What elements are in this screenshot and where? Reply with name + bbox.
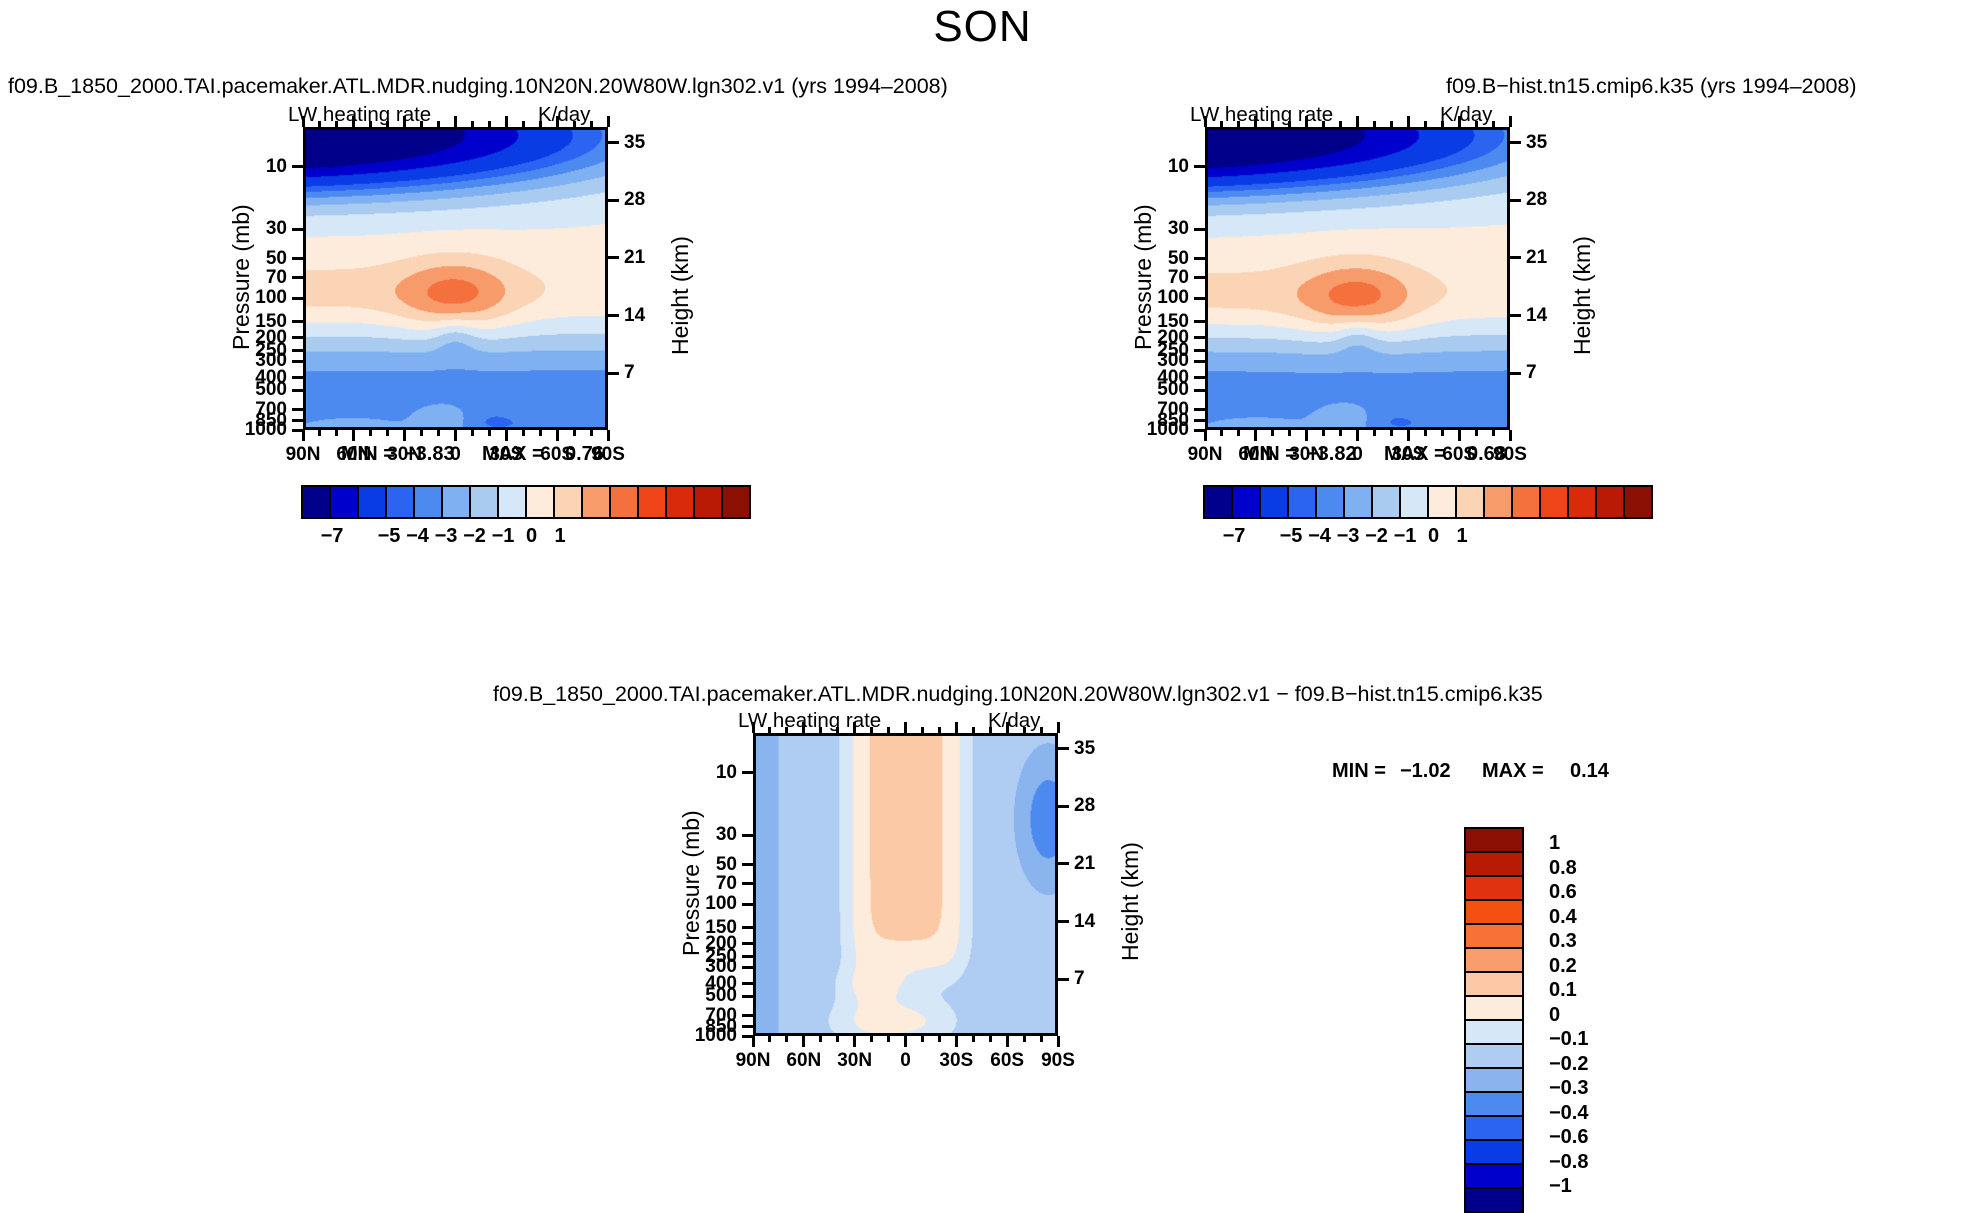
pressure-tick [1194, 276, 1205, 279]
colorbar-swatch [443, 487, 471, 517]
height-tick-label: 28 [624, 189, 645, 211]
pressure-tick-label: 30 [0, 824, 737, 846]
latitude-tick [989, 1036, 992, 1042]
diff-contour-plot[interactable] [753, 733, 1058, 1036]
latitude-tick [1057, 1036, 1060, 1047]
diff-ylabel-height: Height (km) [1117, 842, 1144, 961]
pressure-tick [742, 882, 753, 885]
latitude-tick [590, 121, 593, 127]
latitude-tick [870, 727, 873, 733]
height-tick [608, 199, 619, 202]
colorbar-swatch [1466, 925, 1522, 949]
pressure-tick-label: 70 [0, 873, 737, 895]
latitude-tick [1204, 116, 1207, 127]
latitude-tick [420, 121, 423, 127]
height-tick-label: 14 [1074, 911, 1095, 933]
colorbar-tick-label: −0.6 [1549, 1126, 1588, 1149]
colorbar-swatch [1457, 487, 1485, 517]
diff-panel-title: f09.B_1850_2000.TAI.pacemaker.ATL.MDR.nu… [493, 682, 1543, 707]
latitude-tick [904, 1036, 907, 1047]
height-tick-label: 21 [1526, 247, 1547, 269]
colorbar-swatch [1466, 1021, 1522, 1045]
latitude-tick [1475, 430, 1478, 436]
right-max-value: 0.68 [1467, 443, 1506, 466]
latitude-tick [1441, 121, 1444, 127]
colorbar-swatch [667, 487, 695, 517]
latitude-tick [556, 116, 559, 127]
latitude-tick [403, 116, 406, 127]
colorbar-swatch [1261, 487, 1289, 517]
colorbar-tick-label: 0.1 [1549, 979, 1577, 1002]
latitude-tick [1458, 116, 1461, 127]
colorbar-swatch [1466, 853, 1522, 877]
height-tick-label: 14 [1526, 305, 1547, 327]
colorbar-swatch [583, 487, 611, 517]
right-ylabel-height: Height (km) [1569, 236, 1596, 355]
colorbar-tick-label: 0 [1549, 1004, 1560, 1027]
latitude-tick [887, 727, 890, 733]
colorbar-swatch [1466, 1117, 1522, 1141]
latitude-tick [972, 727, 975, 733]
pressure-tick [1194, 408, 1205, 411]
colorbar-swatch [1466, 1141, 1522, 1165]
pressure-tick-label: 10 [0, 156, 1189, 178]
colorbar-tick-label: 0.2 [1549, 955, 1577, 978]
latitude-tick [1322, 430, 1325, 436]
left-field-label: LW heating rate [288, 103, 431, 127]
latitude-tick [454, 116, 457, 127]
diff-units-label: K/day [988, 709, 1040, 733]
colorbar-swatch [359, 487, 387, 517]
colorbar-swatch [499, 487, 527, 517]
diff-min-label: MIN = [1332, 760, 1386, 783]
latitude-tick [1271, 430, 1274, 436]
latitude-tick [437, 121, 440, 127]
colorbar-tick-label: 1 [538, 525, 582, 548]
left-min-value: −3.83 [404, 443, 455, 466]
latitude-tick-label: 90S [1024, 1050, 1092, 1072]
right-panel-title: f09.B−hist.tn15.cmip6.k35 (yrs 1994–2008… [1446, 74, 1857, 99]
latitude-tick [1424, 430, 1427, 436]
latitude-tick [522, 121, 525, 127]
latitude-tick [938, 727, 941, 733]
latitude-tick [607, 116, 610, 127]
latitude-tick [1407, 430, 1410, 441]
latitude-tick [505, 116, 508, 127]
height-tick [1510, 314, 1521, 317]
colorbar-tick-label: −0.8 [1549, 1151, 1588, 1174]
pressure-tick [742, 903, 753, 906]
pressure-tick [742, 1025, 753, 1028]
latitude-tick [955, 1036, 958, 1047]
height-tick-label: 28 [1074, 795, 1095, 817]
latitude-tick [488, 121, 491, 127]
diff-max-label: MAX = [1482, 760, 1544, 783]
latitude-tick [836, 1036, 839, 1042]
latitude-tick [1305, 116, 1308, 127]
latitude-tick [904, 722, 907, 733]
pressure-tick [1194, 297, 1205, 300]
latitude-tick [386, 121, 389, 127]
latitude-tick [768, 1036, 771, 1042]
colorbar-swatch [1625, 487, 1651, 517]
colorbar-tick-label: 1 [1549, 832, 1560, 855]
latitude-tick [870, 1036, 873, 1042]
latitude-tick [302, 116, 305, 127]
colorbar-swatch [415, 487, 443, 517]
colorbar-tick-label: −0.3 [1549, 1077, 1588, 1100]
latitude-tick [1271, 121, 1274, 127]
colorbar-swatch [1466, 973, 1522, 997]
right-units-label: K/day [1440, 103, 1492, 127]
latitude-tick [1509, 430, 1512, 441]
pressure-tick [742, 834, 753, 837]
pressure-tick [1194, 336, 1205, 339]
colorbar-swatch [1569, 487, 1597, 517]
colorbar-swatch [1466, 1093, 1522, 1117]
left-min-label: MIN = [341, 443, 395, 466]
colorbar-swatch [1345, 487, 1373, 517]
right-min-label: MIN = [1243, 443, 1297, 466]
latitude-tick [1509, 116, 1512, 127]
latitude-tick [1023, 727, 1026, 733]
latitude-tick [1006, 722, 1009, 733]
pressure-tick-label: 70 [0, 267, 1189, 289]
pressure-tick-label: 1000 [0, 419, 1189, 441]
height-tick-label: 7 [1074, 968, 1085, 990]
pressure-tick-label: 100 [0, 287, 1189, 309]
colorbar-swatch [1485, 487, 1513, 517]
diff-field-label: LW heating rate [738, 709, 881, 733]
latitude-tick [1237, 430, 1240, 436]
colorbar-swatch [1466, 877, 1522, 901]
latitude-tick [1407, 116, 1410, 127]
latitude-tick [1390, 121, 1393, 127]
colorbar-swatch [1466, 901, 1522, 925]
latitude-tick [1492, 430, 1495, 436]
pressure-tick [1194, 165, 1205, 168]
latitude-tick [752, 722, 755, 733]
colorbar-tick-label: −0.4 [1549, 1102, 1588, 1125]
pressure-tick [742, 966, 753, 969]
pressure-tick [1194, 360, 1205, 363]
latitude-tick [1023, 1036, 1026, 1042]
colorbar-tick-label: 1 [1440, 525, 1484, 548]
height-tick-label: 35 [1074, 738, 1095, 760]
latitude-tick [318, 121, 321, 127]
latitude-tick [1373, 430, 1376, 436]
colorbar-swatch [1466, 829, 1522, 853]
colorbar-tick-label: −7 [1212, 525, 1256, 548]
latitude-tick [1254, 430, 1257, 441]
pressure-tick [1194, 320, 1205, 323]
right-colorbar[interactable] [1203, 485, 1653, 519]
latitude-tick [1254, 116, 1257, 127]
pressure-tick [1194, 349, 1205, 352]
colorbar-tick-label: −0.1 [1549, 1028, 1588, 1051]
colorbar-swatch [1401, 487, 1429, 517]
right-field-label: LW heating rate [1190, 103, 1333, 127]
latitude-tick [819, 1036, 822, 1042]
pressure-tick [1194, 228, 1205, 231]
colorbar-swatch [1289, 487, 1317, 517]
height-tick-label: 35 [1526, 132, 1547, 154]
colorbar-swatch [1466, 949, 1522, 973]
latitude-tick [802, 722, 805, 733]
latitude-tick [1220, 121, 1223, 127]
height-tick [1058, 805, 1069, 808]
pressure-tick [1194, 257, 1205, 260]
height-tick-label: 35 [624, 132, 645, 154]
colorbar-tick-label: −0.2 [1549, 1053, 1588, 1076]
latitude-tick [335, 121, 338, 127]
latitude-tick [352, 116, 355, 127]
diff-colorbar[interactable] [1464, 827, 1524, 1213]
height-tick [1510, 256, 1521, 259]
colorbar-swatch [555, 487, 583, 517]
latitude-tick [938, 1036, 941, 1042]
colorbar-swatch [387, 487, 415, 517]
latitude-tick [785, 727, 788, 733]
colorbar-swatch [1541, 487, 1569, 517]
latitude-tick [768, 727, 771, 733]
pressure-tick [1194, 419, 1205, 422]
colorbar-swatch [1466, 1189, 1522, 1211]
pressure-tick [742, 955, 753, 958]
pressure-tick-label: 10 [0, 762, 737, 784]
colorbar-swatch [1513, 487, 1541, 517]
latitude-tick [1458, 430, 1461, 441]
pressure-tick-label: 30 [0, 218, 1189, 240]
pressure-tick-label: 100 [0, 893, 737, 915]
latitude-tick [802, 1036, 805, 1047]
latitude-tick [471, 121, 474, 127]
colorbar-swatch [1429, 487, 1457, 517]
colorbar-swatch [611, 487, 639, 517]
colorbar-swatch [1233, 487, 1261, 517]
right-max-label: MAX = [1384, 443, 1446, 466]
latitude-tick [1373, 121, 1376, 127]
latitude-tick [1441, 430, 1444, 436]
height-tick [1058, 978, 1069, 981]
pressure-tick [1194, 376, 1205, 379]
latitude-tick [1424, 121, 1427, 127]
latitude-tick [972, 1036, 975, 1042]
season-title: SON [0, 2, 1965, 52]
colorbar-tick-label: 0.4 [1549, 906, 1577, 929]
colorbar-swatch [695, 487, 723, 517]
latitude-tick [853, 1036, 856, 1047]
pressure-tick [742, 995, 753, 998]
height-tick-label: 7 [1526, 362, 1537, 384]
latitude-tick [836, 727, 839, 733]
latitude-tick [1288, 121, 1291, 127]
pressure-tick [742, 942, 753, 945]
latitude-tick [1339, 430, 1342, 436]
pressure-tick [742, 1014, 753, 1017]
height-tick-label: 21 [1074, 853, 1095, 875]
left-max-label: MAX = [482, 443, 544, 466]
latitude-tick [989, 727, 992, 733]
colorbar-swatch [1466, 1045, 1522, 1069]
left-units-label: K/day [538, 103, 590, 127]
height-tick [1058, 862, 1069, 865]
latitude-tick [785, 1036, 788, 1042]
latitude-tick [887, 1036, 890, 1042]
colorbar-swatch [1466, 1165, 1522, 1189]
colorbar-swatch [331, 487, 359, 517]
latitude-tick [1475, 121, 1478, 127]
latitude-tick [1057, 722, 1060, 733]
colorbar-tick-label: 0.3 [1549, 930, 1577, 953]
left-panel-title: f09.B_1850_2000.TAI.pacemaker.ATL.MDR.nu… [8, 74, 948, 99]
latitude-tick [1040, 727, 1043, 733]
height-tick-label: 28 [1526, 189, 1547, 211]
latitude-tick [1305, 430, 1308, 441]
latitude-tick [573, 121, 576, 127]
latitude-tick [1220, 430, 1223, 436]
colorbar-swatch [723, 487, 749, 517]
right-min-value: −3.82 [1306, 443, 1357, 466]
diff-min-value: −1.02 [1400, 760, 1451, 783]
colorbar-swatch [303, 487, 331, 517]
colorbar-swatch [639, 487, 667, 517]
right-contour-plot[interactable] [1205, 127, 1510, 430]
left-colorbar[interactable] [301, 485, 751, 519]
height-tick [1058, 920, 1069, 923]
diff-max-value: 0.14 [1570, 760, 1609, 783]
latitude-tick [1322, 121, 1325, 127]
colorbar-swatch [1373, 487, 1401, 517]
colorbar-swatch [471, 487, 499, 517]
colorbar-swatch [527, 487, 555, 517]
latitude-tick [1356, 430, 1359, 441]
latitude-tick [853, 722, 856, 733]
colorbar-swatch [1597, 487, 1625, 517]
latitude-tick [1390, 430, 1393, 436]
latitude-tick [819, 727, 822, 733]
pressure-tick [742, 926, 753, 929]
colorbar-tick-label: 0.6 [1549, 881, 1577, 904]
latitude-tick [1006, 1036, 1009, 1047]
height-tick [608, 141, 619, 144]
height-tick [1510, 141, 1521, 144]
colorbar-swatch [1317, 487, 1345, 517]
latitude-tick [539, 121, 542, 127]
pressure-tick [1194, 389, 1205, 392]
latitude-tick [1288, 430, 1291, 436]
colorbar-swatch [1466, 1069, 1522, 1093]
height-tick [1510, 372, 1521, 375]
pressure-tick [742, 982, 753, 985]
latitude-tick [1356, 116, 1359, 127]
colorbar-swatch [1205, 487, 1233, 517]
latitude-tick [1204, 430, 1207, 441]
left-max-value: 0.76 [565, 443, 604, 466]
colorbar-tick-label: −1 [1549, 1175, 1572, 1198]
height-tick [1058, 747, 1069, 750]
pressure-tick [742, 771, 753, 774]
height-tick [1510, 199, 1521, 202]
colorbar-tick-label: 0.8 [1549, 857, 1577, 880]
latitude-tick [1237, 121, 1240, 127]
latitude-tick [955, 722, 958, 733]
pressure-tick [742, 863, 753, 866]
latitude-tick [1492, 121, 1495, 127]
colorbar-swatch [1466, 997, 1522, 1021]
latitude-tick [921, 1036, 924, 1042]
latitude-tick [1339, 121, 1342, 127]
latitude-tick [1040, 1036, 1043, 1042]
pressure-tick-label: 1000 [0, 1025, 737, 1047]
latitude-tick [752, 1036, 755, 1047]
latitude-tick [921, 727, 924, 733]
latitude-tick [369, 121, 372, 127]
colorbar-tick-label: −7 [310, 525, 354, 548]
